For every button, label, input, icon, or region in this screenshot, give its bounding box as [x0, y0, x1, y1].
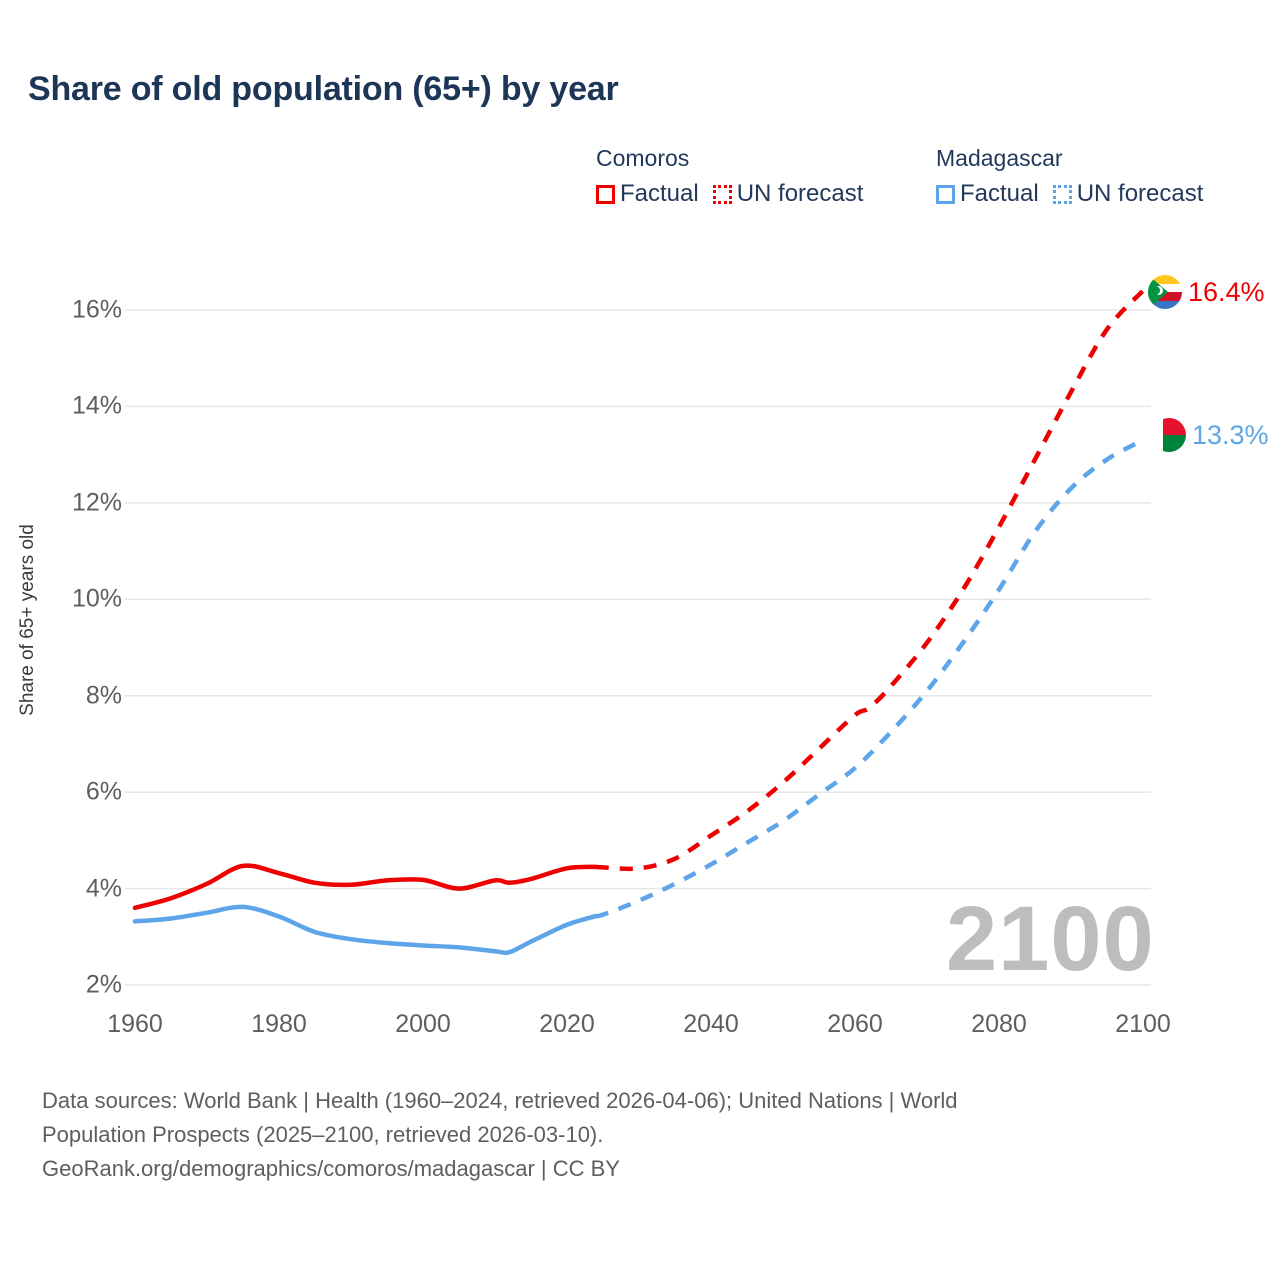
dotted-square-outline-icon	[713, 185, 732, 204]
x-tick-label: 1980	[251, 1010, 307, 1039]
y-tick-label: 14%	[72, 392, 122, 421]
solid-square-outline-icon	[596, 185, 615, 204]
legend-item-madagascar-factual[interactable]: Factual	[936, 180, 1039, 208]
data-lines	[135, 291, 1143, 953]
solid-square-outline-icon	[936, 185, 955, 204]
y-tick-label: 8%	[86, 681, 122, 710]
legend-item-label: Factual	[960, 180, 1039, 208]
y-tick-label: 16%	[72, 296, 122, 325]
legend-country-label: Comoros	[596, 144, 877, 172]
madagascar-flag-icon	[1152, 418, 1186, 452]
y-axis-ticks: 2%4%6%8%10%12%14%16%	[0, 0, 122, 1040]
x-tick-label: 2020	[539, 1010, 595, 1039]
gridlines	[125, 310, 1151, 985]
y-tick-label: 6%	[86, 778, 122, 807]
legend-entries: FactualUN forecast	[936, 180, 1217, 208]
dotted-square-outline-icon	[1053, 185, 1072, 204]
line-factual-madagascar	[135, 907, 596, 953]
chart-legend: ComorosFactualUN forecastMadagascarFactu…	[596, 144, 1256, 224]
line-factual-comoros	[135, 866, 596, 908]
y-tick-label: 4%	[86, 874, 122, 903]
end-value-comoros: 16.4%	[1188, 277, 1265, 308]
x-tick-label: 2080	[971, 1010, 1027, 1039]
x-tick-label: 2100	[1115, 1010, 1171, 1039]
legend-group-madagascar: MadagascarFactualUN forecast	[936, 144, 1217, 208]
legend-item-comoros-factual[interactable]: Factual	[596, 180, 699, 208]
footer-line-3[interactable]: GeoRank.org/demographics/comoros/madagas…	[42, 1152, 1222, 1186]
legend-country-label: Madagascar	[936, 144, 1217, 172]
y-axis-title: Share of 65+ years old	[17, 524, 39, 716]
legend-item-madagascar-un-forecast[interactable]: UN forecast	[1053, 180, 1204, 208]
legend-group-comoros: ComorosFactualUN forecast	[596, 144, 877, 208]
end-label-madagascar: 13.3%	[1152, 418, 1269, 452]
footer-sources: Data sources: World Bank | Health (1960–…	[42, 1084, 1222, 1186]
legend-item-label: UN forecast	[737, 180, 864, 208]
x-tick-label: 2060	[827, 1010, 883, 1039]
line-forecast-comoros	[596, 291, 1143, 869]
x-tick-label: 2040	[683, 1010, 739, 1039]
line-forecast-madagascar	[596, 440, 1143, 916]
legend-item-label: UN forecast	[1077, 180, 1204, 208]
x-tick-label: 1960	[107, 1010, 163, 1039]
y-tick-label: 2%	[86, 971, 122, 1000]
comoros-flag-icon	[1148, 275, 1182, 309]
footer-line-1: Data sources: World Bank | Health (1960–…	[42, 1084, 1222, 1118]
legend-entries: FactualUN forecast	[596, 180, 877, 208]
y-tick-label: 12%	[72, 488, 122, 517]
y-tick-label: 10%	[72, 585, 122, 614]
footer-line-2: Population Prospects (2025–2100, retriev…	[42, 1118, 1222, 1152]
legend-item-comoros-un-forecast[interactable]: UN forecast	[713, 180, 864, 208]
year-watermark: 2100	[946, 893, 1155, 985]
legend-item-label: Factual	[620, 180, 699, 208]
end-value-madagascar: 13.3%	[1192, 420, 1269, 451]
x-axis-ticks: 19601980200020202040206020802100	[0, 1010, 1280, 1050]
end-label-comoros: 16.4%	[1148, 275, 1265, 309]
x-tick-label: 2000	[395, 1010, 451, 1039]
